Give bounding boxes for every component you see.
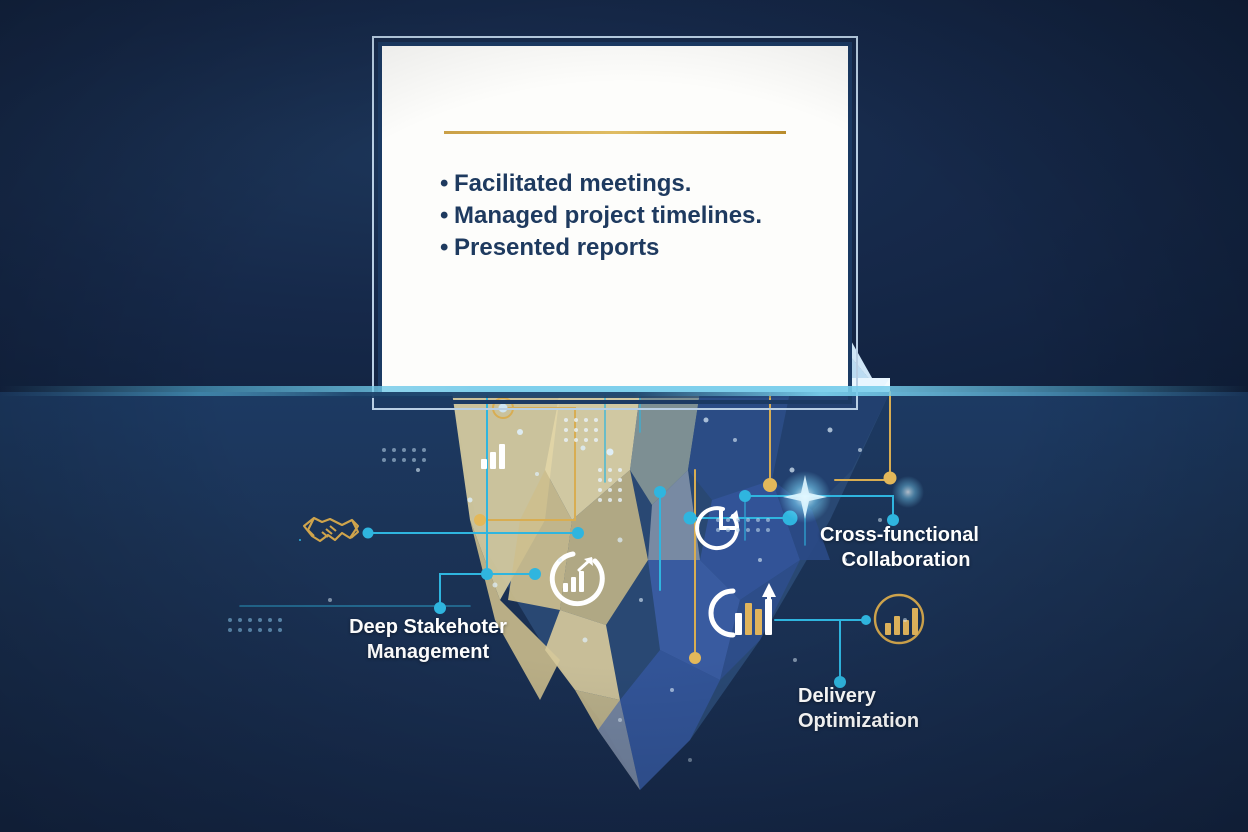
title-divider <box>444 131 786 134</box>
label-line-1: Delivery <box>798 684 958 709</box>
label-line-2: Management <box>338 640 518 665</box>
bullet-marker: • <box>440 232 454 264</box>
list-item: •Presented reports <box>440 232 850 264</box>
label-line-2: Optimization <box>798 709 958 734</box>
label-line-1: Cross-functional <box>820 523 992 548</box>
label-delivery-optimization: Delivery Optimization <box>798 684 958 734</box>
bullet-marker: • <box>440 200 454 232</box>
handshake-icon <box>304 518 358 541</box>
bullet-text: Managed project timelines. <box>454 202 762 229</box>
label-cross-functional-collaboration: Cross-functional Collaboration <box>820 523 992 573</box>
resume-title: RESUME <box>382 64 848 126</box>
waterline-shadow <box>200 392 820 398</box>
bullet-text: Facilitated meetings. <box>454 170 691 197</box>
bullet-marker: • <box>440 168 454 200</box>
list-item: •Managed project timelines. <box>440 200 850 232</box>
bar-chart-circle-icon <box>875 595 923 643</box>
dot-grid-bottom-left <box>228 618 282 632</box>
label-deep-stakeholder-management: Deep Stakehoter Management <box>338 615 518 665</box>
label-line-1: Deep Stakehoter <box>338 615 518 640</box>
dot-grid-left <box>382 448 426 462</box>
list-item: •Facilitated meetings. <box>440 168 850 200</box>
bullet-text: Presented reports <box>454 234 659 261</box>
label-line-2: Collaboration <box>820 548 992 573</box>
infographic-canvas: RESUME •Facilitated meetings. •Managed p… <box>0 0 1248 832</box>
resume-bullet-list: •Facilitated meetings. •Managed project … <box>440 168 850 264</box>
